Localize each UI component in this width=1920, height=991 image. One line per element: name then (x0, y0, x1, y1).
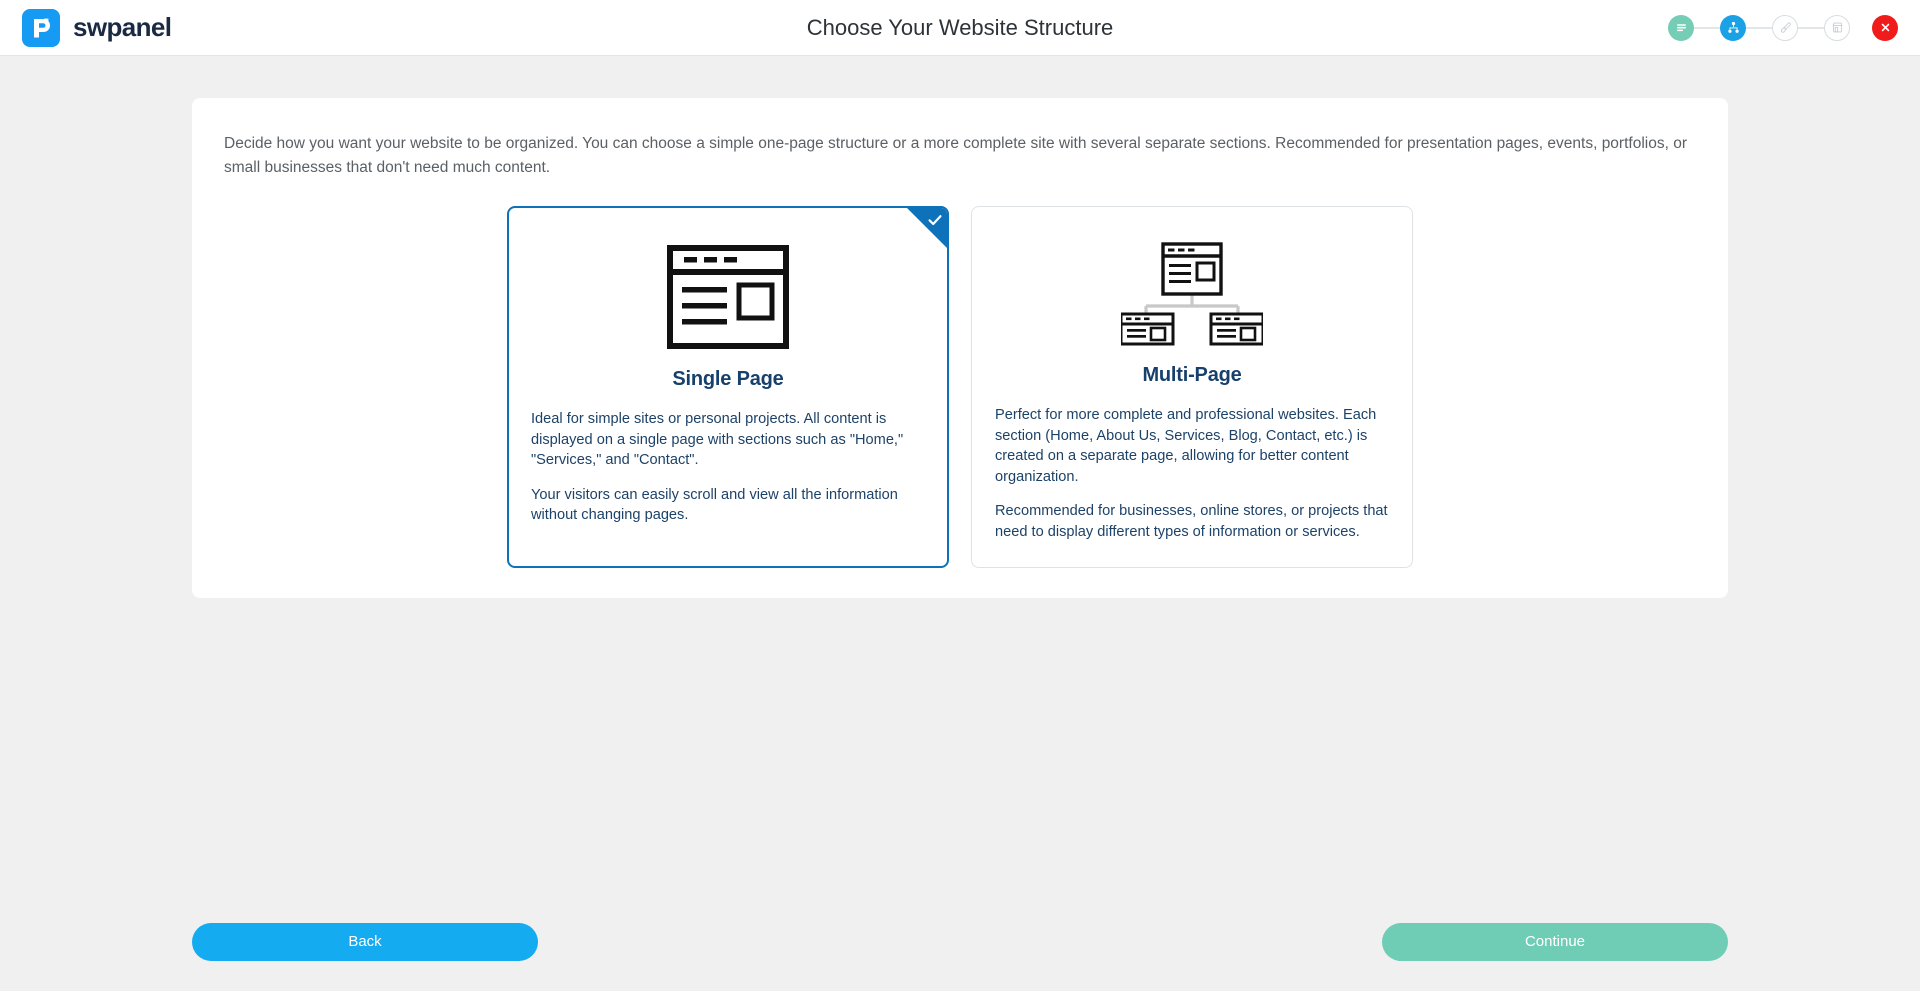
option-card-single-page[interactable]: Single Page Ideal for simple sites or pe… (507, 206, 949, 568)
step-3-design[interactable] (1772, 15, 1798, 41)
store-icon (1831, 21, 1844, 34)
list-menu-icon (1675, 21, 1688, 34)
close-wizard-button[interactable] (1872, 15, 1898, 41)
option-paragraph: Ideal for simple sites or personal proje… (531, 409, 925, 471)
panel-description: Decide how you want your website to be o… (222, 132, 1698, 180)
single-window-icon (531, 238, 925, 356)
option-title: Multi-Page (995, 364, 1389, 387)
option-title: Single Page (531, 368, 925, 391)
sitemap-windows-icon (995, 238, 1389, 350)
structure-options: Single Page Ideal for simple sites or pe… (220, 206, 1700, 568)
wizard-stage: Decide how you want your website to be o… (0, 56, 1920, 991)
app-header: swpanel Choose Your Website Structure (0, 0, 1920, 56)
wizard-stepper (1668, 15, 1850, 41)
close-icon (1879, 21, 1892, 34)
stepper-connector (1694, 27, 1720, 29)
option-card-multi-page[interactable]: Multi-Page Perfect for more complete and… (971, 206, 1413, 568)
stepper-connector (1798, 27, 1824, 29)
stepper-connector (1746, 27, 1772, 29)
page-title: Choose Your Website Structure (0, 15, 1920, 41)
option-paragraph: Perfect for more complete and profession… (995, 405, 1389, 487)
option-paragraph: Recommended for businesses, online store… (995, 501, 1389, 542)
step-2-website-structure[interactable] (1720, 15, 1746, 41)
sitemap-icon (1727, 21, 1740, 34)
brand-logo[interactable]: swpanel (22, 9, 171, 47)
paintbrush-icon (1779, 21, 1792, 34)
step-4-business[interactable] (1824, 15, 1850, 41)
brand-name: swpanel (73, 12, 171, 43)
structure-panel: Decide how you want your website to be o… (192, 98, 1728, 598)
back-button[interactable]: Back (192, 923, 538, 961)
option-paragraph: Your visitors can easily scroll and view… (531, 485, 925, 526)
swpanel-logo-icon (22, 9, 60, 47)
continue-button[interactable]: Continue (1382, 923, 1728, 961)
step-1-structure-type[interactable] (1668, 15, 1694, 41)
wizard-footer: Back Continue (0, 919, 1920, 965)
check-icon (927, 212, 943, 228)
